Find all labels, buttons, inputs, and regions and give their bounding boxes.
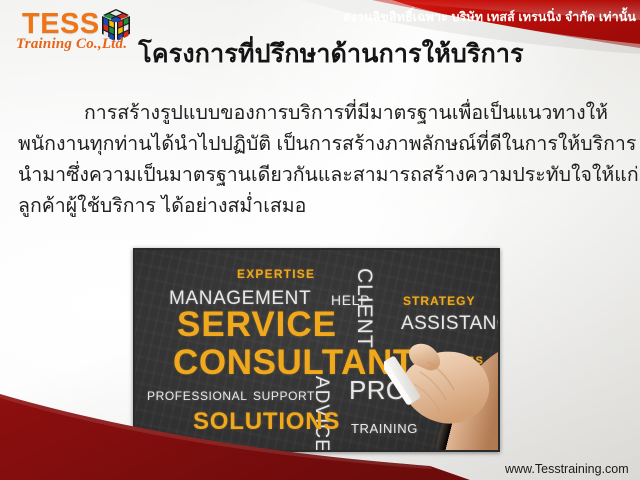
slide-canvas: สงวนลิขสิทธิ์เฉพาะ บริษัท เทสส์ เทรนนิ่ง…: [0, 0, 640, 480]
chalk-word-client: CLIENT: [354, 268, 375, 349]
logo-wordmark: TESS: [22, 10, 100, 39]
copyright-notice: สงวนลิขสิทธิ์เฉพาะ บริษัท เทสส์ เทรนนิ่ง…: [340, 11, 636, 24]
body-line-2: พนักงานทุกท่านได้นำไปปฏิบัติ เป็นการสร้า…: [18, 129, 630, 160]
website-url[interactable]: www.Tesstraining.com: [505, 462, 629, 476]
chalk-word-expertise: EXPERTISE: [237, 268, 315, 280]
body-line-3: นำมาซึ่งความเป็นมาตรฐานเดียวกันและสามารถ…: [18, 160, 630, 191]
chalk-word-service: SERVICE: [177, 307, 337, 342]
page-title-text: โครงการที่ปรึกษาด้านการให้บริการ: [138, 40, 524, 69]
body-line-1: การสร้างรูปแบบของการบริการที่มีมาตรฐานเพ…: [18, 98, 630, 129]
page-title: โครงการที่ปรึกษาด้านการให้บริการ: [0, 40, 640, 69]
copyright-text: สงวนลิขสิทธิ์เฉพาะ บริษัท เทสส์ เทรนนิ่ง…: [343, 10, 636, 24]
body-paragraph: การสร้างรูปแบบของการบริการที่มีมาตรฐานเพ…: [18, 98, 630, 222]
body-line-4: ลูกค้าผู้ใช้บริการ ได้อย่างสม่ำเสมอ: [18, 191, 630, 222]
